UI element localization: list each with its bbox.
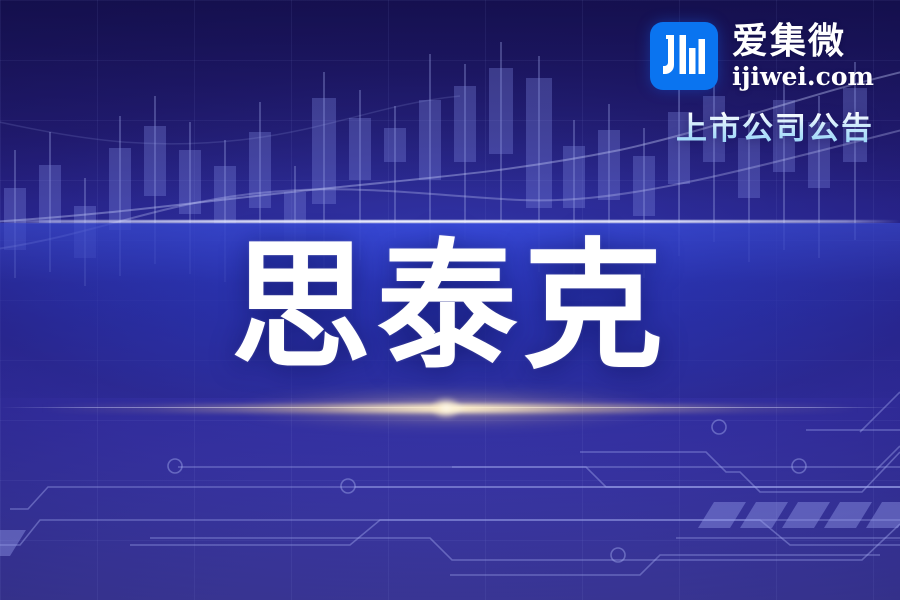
brand-header: 爱集微 ijiwei.com 上市公司公告 <box>650 22 874 148</box>
brand-logo-row: 爱集微 ijiwei.com <box>650 22 874 90</box>
brand-name-en: ijiwei.com <box>732 64 874 89</box>
ijiwei-bars-logo-icon <box>650 22 718 90</box>
company-name-title: 思泰克 <box>0 238 900 378</box>
lens-flare-core <box>425 393 467 423</box>
announcement-banner: 爱集微 ijiwei.com 上市公司公告 思泰克 <box>0 0 900 600</box>
brand-wordmark: 爱集微 ijiwei.com <box>732 24 874 89</box>
brand-name-cn: 爱集微 <box>732 24 874 60</box>
banner-subtitle: 上市公司公告 <box>676 103 874 148</box>
